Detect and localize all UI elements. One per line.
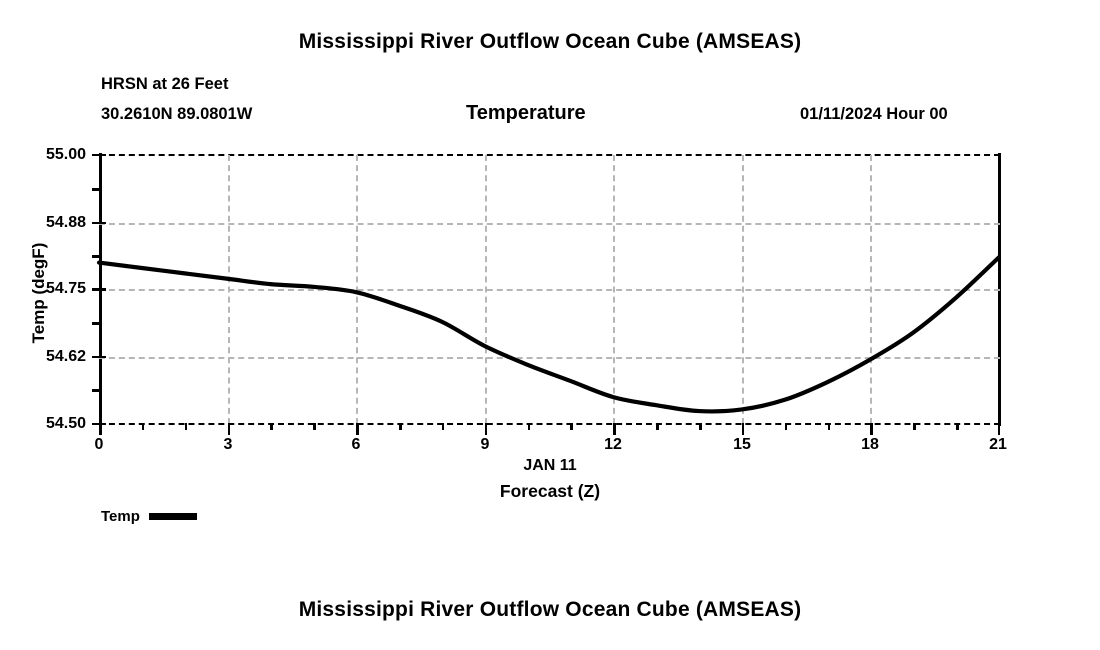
station-coordinates-label: 30.2610N 89.0801W — [101, 105, 252, 124]
y-tick-label: 55.00 — [20, 146, 86, 164]
x-tick-minor — [270, 423, 273, 430]
x-tick-label: 15 — [722, 436, 762, 454]
x-tick-minor — [442, 423, 445, 430]
x-tick-minor — [528, 423, 531, 430]
footer-title: Mississippi River Outflow Ocean Cube (AM… — [0, 598, 1100, 622]
legend-label-temp: Temp — [101, 508, 140, 525]
x-tick-minor — [313, 423, 316, 430]
x-tick-minor — [913, 423, 916, 430]
x-axis-title: Forecast (Z) — [0, 481, 1100, 502]
x-tick-label: 12 — [593, 436, 633, 454]
x-tick-major — [742, 423, 745, 435]
x-tick-minor — [185, 423, 188, 430]
x-axis-day-label: JAN 11 — [0, 457, 1100, 475]
x-tick-major — [485, 423, 488, 435]
station-depth-label: HRSN at 26 Feet — [101, 75, 228, 94]
page-title: Mississippi River Outflow Ocean Cube (AM… — [0, 30, 1100, 54]
x-tick-major — [99, 423, 102, 435]
x-tick-major — [356, 423, 359, 435]
x-tick-label: 9 — [465, 436, 505, 454]
y-tick-label: 54.50 — [20, 415, 86, 433]
x-tick-major — [870, 423, 873, 435]
x-tick-major — [228, 423, 231, 435]
model-run-datestamp: 01/11/2024 Hour 00 — [800, 105, 948, 124]
x-tick-label: 18 — [850, 436, 890, 454]
x-tick-minor — [828, 423, 831, 430]
x-tick-major — [998, 423, 1001, 435]
legend: Temp — [101, 508, 197, 525]
x-tick-label: 0 — [79, 436, 119, 454]
x-tick-major — [613, 423, 616, 435]
x-tick-label: 6 — [336, 436, 376, 454]
x-tick-minor — [956, 423, 959, 430]
x-tick-minor — [399, 423, 402, 430]
variable-title: Temperature — [466, 102, 586, 125]
x-tick-minor — [785, 423, 788, 430]
x-tick-minor — [570, 423, 573, 430]
x-tick-minor — [142, 423, 145, 430]
temperature-series-plot — [99, 155, 999, 424]
series-line-temp — [99, 257, 999, 411]
x-tick-minor — [656, 423, 659, 430]
legend-swatch-temp — [149, 513, 197, 520]
x-tick-label: 3 — [208, 436, 248, 454]
y-axis-title: Temp (degF) — [29, 213, 49, 373]
x-tick-label: 21 — [978, 436, 1018, 454]
x-tick-minor — [699, 423, 702, 430]
